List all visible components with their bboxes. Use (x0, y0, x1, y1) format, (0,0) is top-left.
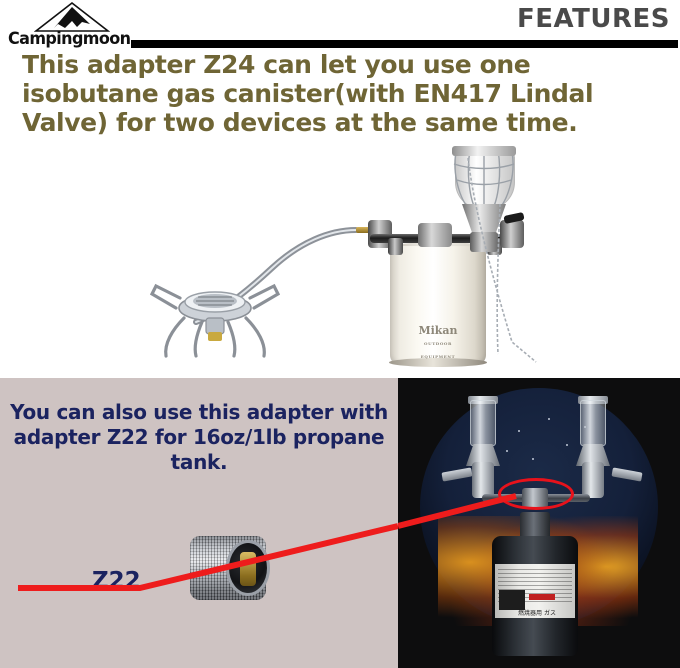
hose-illustration (0, 146, 680, 378)
camping-stove-illustration (150, 268, 280, 358)
lantern-top-cap (452, 146, 516, 156)
splitter-knob-left (388, 238, 403, 255)
header-divider (131, 40, 678, 48)
red-pointer-continuation (398, 378, 680, 668)
bottom-left-panel: You can also use this adapter with adapt… (0, 378, 398, 668)
page-title: FEATURES (517, 4, 670, 34)
headline-text: This adapter Z24 can let you use one iso… (22, 50, 662, 137)
brand-wordmark: Campingmoon (8, 29, 132, 48)
brand-logo: Campingmoon (8, 2, 132, 48)
product-feature-graphic: Campingmoon FEATURES This adapter Z24 ca… (0, 0, 680, 668)
header: Campingmoon FEATURES (0, 0, 680, 52)
bottom-right-photo: 燃焼器用 ガス (398, 378, 680, 668)
hero-product-photo: Mikan OUTDOOR EQUIPMENT (0, 146, 680, 378)
red-pointer-line (0, 378, 398, 668)
lantern-chain (440, 156, 550, 368)
